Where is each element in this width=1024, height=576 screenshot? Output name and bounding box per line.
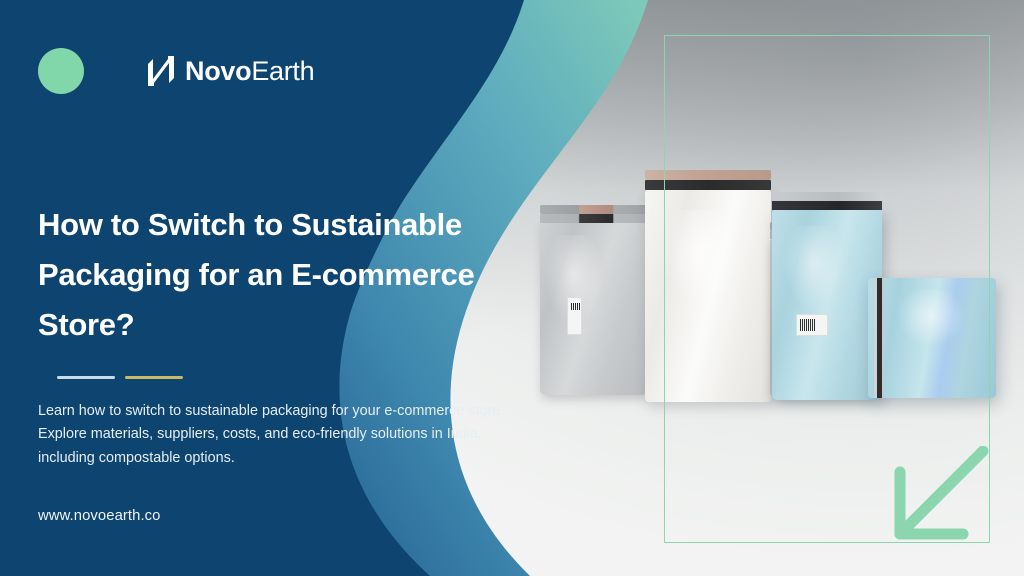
- slide-canvas: NovoEarth How to Switch to Sustainable P…: [0, 0, 1024, 576]
- divider-group: [57, 376, 183, 379]
- description-text: Learn how to switch to sustainable packa…: [38, 400, 540, 470]
- page-title: How to Switch to Sustainable Packaging f…: [38, 200, 518, 351]
- website-url[interactable]: www.novoearth.co: [38, 508, 161, 524]
- accent-circle-icon: [38, 48, 84, 94]
- brand-logo[interactable]: NovoEarth: [38, 48, 314, 94]
- brand-name: NovoEarth: [185, 56, 314, 87]
- divider-blue: [57, 376, 115, 379]
- divider-gold: [125, 376, 183, 379]
- brand-name-bold: Novo: [185, 56, 251, 86]
- brand-name-light: Earth: [251, 56, 314, 86]
- n-monogram-icon: [146, 55, 176, 87]
